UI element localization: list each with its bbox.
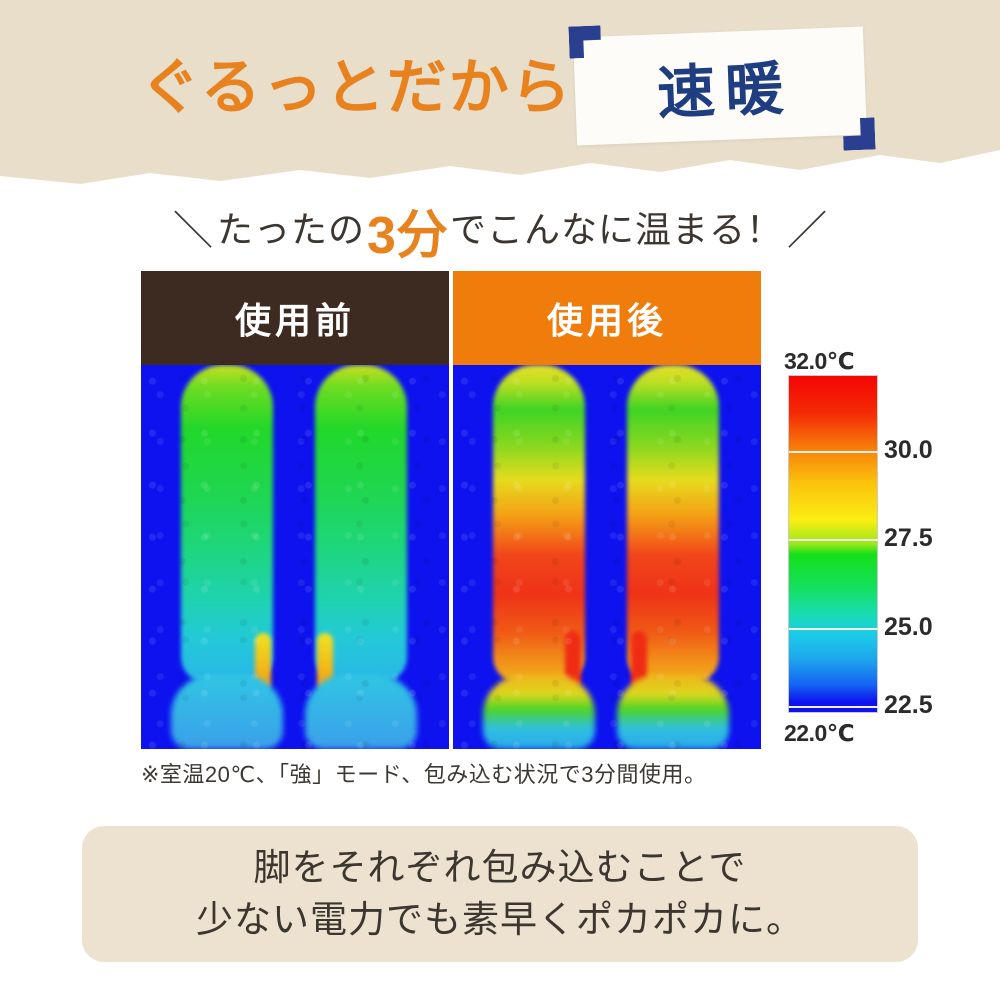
subtitle-line: ＼ たったの 3分 でこんなに温まる！ ／ xyxy=(0,196,1000,258)
advertisement-page: ぐるっとだから 速暖 ＼ たったの 3分 でこんなに温まる！ ／ 使用前 xyxy=(0,0,1000,1000)
colorbar-tick-label-30: 30.0 xyxy=(884,436,933,465)
colorbar-tick-line xyxy=(789,706,879,708)
sokudan-badge: 速暖 xyxy=(575,32,865,140)
thermal-image-after xyxy=(453,365,761,749)
thermal-leg-right xyxy=(309,365,413,749)
colorbar-tick-line xyxy=(789,628,879,630)
caption-line-2: 少ない電力でも素早くポカポカに。 xyxy=(196,894,804,946)
colorbar-tick-line xyxy=(789,539,879,541)
thermal-foot xyxy=(171,675,283,749)
caption-panel: 脚をそれぞれ包み込むことで 少ない電力でも素早くポカポカに。 xyxy=(82,826,918,962)
colorbar xyxy=(788,375,878,713)
thermal-leg-right xyxy=(621,365,725,749)
panel-before: 使用前 xyxy=(141,271,449,749)
colorbar-max-label: 32.0℃ xyxy=(784,348,904,375)
panel-before-header: 使用前 xyxy=(141,271,449,365)
colorbar-tick-label-22-5: 22.5 xyxy=(884,691,933,720)
thermal-foot xyxy=(483,675,595,749)
footnote-text: ※室温20℃、「強」モード、包み込む状況で3分間使用。 xyxy=(141,757,841,789)
thermal-foot xyxy=(305,675,417,749)
colorbar-tick-line xyxy=(789,451,879,453)
brand-script-text: ぐるっとだから xyxy=(140,40,570,135)
slash-right-icon: ／ xyxy=(787,198,827,256)
panel-after-header: 使用後 xyxy=(453,271,761,365)
thermal-image-before xyxy=(141,365,449,749)
subtitle-text-after: でこんなに温まる！ xyxy=(450,201,783,253)
panel-after: 使用後 xyxy=(453,271,761,749)
thermal-leg-left xyxy=(487,365,591,749)
slash-left-icon: ＼ xyxy=(173,198,213,256)
subtitle-text-before: たったの xyxy=(217,201,365,253)
badge-label: 速暖 xyxy=(573,26,867,145)
colorbar-tick-label-25: 25.0 xyxy=(884,613,933,642)
subtitle-accent-duration: 3分 xyxy=(365,193,450,268)
colorbar-tick-label-27-5: 27.5 xyxy=(884,524,933,553)
caption-line-1: 脚をそれぞれ包み込むことで xyxy=(254,842,747,894)
thermal-comparison: 使用前 使用後 xyxy=(141,271,761,749)
thermal-leg-left xyxy=(175,365,279,749)
thermal-foot xyxy=(617,675,729,749)
colorbar-min-label: 22.0℃ xyxy=(784,720,904,747)
